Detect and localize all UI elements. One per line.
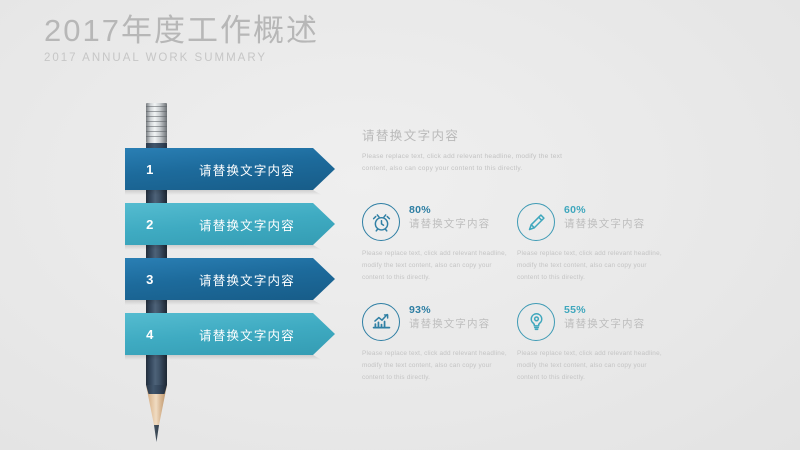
banner-item-3[interactable]: 3 请替换文字内容	[125, 258, 335, 300]
banner-label: 请替换文字内容	[175, 325, 335, 344]
stat-meta: 60% 请替换文字内容	[564, 203, 645, 231]
stat-description: Please replace text, click add relevant …	[362, 248, 512, 285]
stat-card-2[interactable]: 60% 请替换文字内容 Please replace text, click a…	[517, 203, 685, 285]
stat-header: 93% 请替换文字内容	[362, 303, 530, 341]
banner-label: 请替换文字内容	[175, 270, 335, 289]
stat-percent: 60%	[564, 204, 645, 217]
stat-card-1[interactable]: 80% 请替换文字内容 Please replace text, click a…	[362, 203, 530, 285]
stat-meta: 55% 请替换文字内容	[564, 303, 645, 331]
stat-header: 55% 请替换文字内容	[517, 303, 685, 341]
banner-number: 1	[125, 162, 175, 177]
banner-shadow-2	[125, 245, 335, 250]
stat-description: Please replace text, click add relevant …	[362, 348, 512, 385]
banner-label: 请替换文字内容	[175, 215, 335, 234]
page-title: 2017年度工作概述	[44, 14, 319, 48]
stat-card-3[interactable]: 93% 请替换文字内容 Please replace text, click a…	[362, 303, 530, 385]
banner-item-1[interactable]: 1 请替换文字内容	[125, 148, 335, 190]
lightbulb-idea-icon	[517, 303, 555, 341]
stat-label: 请替换文字内容	[409, 217, 490, 231]
banner-number: 3	[125, 272, 175, 287]
stat-label: 请替换文字内容	[564, 317, 645, 331]
slide-header: 2017年度工作概述 2017 ANNUAL WORK SUMMARY	[44, 14, 319, 64]
intro-block: 请替换文字内容 Please replace text, click add r…	[362, 125, 762, 175]
banner-item-4[interactable]: 4 请替换文字内容	[125, 313, 335, 355]
stat-description: Please replace text, click add relevant …	[517, 248, 667, 285]
pencil-wood-tip	[146, 385, 167, 425]
banner-label: 请替换文字内容	[175, 160, 335, 179]
stat-meta: 80% 请替换文字内容	[409, 203, 490, 231]
pencil-lead-point	[146, 425, 167, 442]
stat-card-4[interactable]: 55% 请替换文字内容 Please replace text, click a…	[517, 303, 685, 385]
stat-label: 请替换文字内容	[409, 317, 490, 331]
stat-label: 请替换文字内容	[564, 217, 645, 231]
slide-canvas: 2017年度工作概述 2017 ANNUAL WORK SUMMARY 1 请替…	[0, 0, 800, 450]
bar-chart-growth-icon	[362, 303, 400, 341]
page-subtitle: 2017 ANNUAL WORK SUMMARY	[44, 52, 319, 64]
stat-percent: 80%	[409, 204, 490, 217]
pen-nib-icon	[517, 203, 555, 241]
banner-shadow-4	[125, 355, 335, 360]
banner-number: 4	[125, 327, 175, 342]
stat-header: 60% 请替换文字内容	[517, 203, 685, 241]
banner-shadow-3	[125, 300, 335, 305]
banner-item-2[interactable]: 2 请替换文字内容	[125, 203, 335, 245]
stat-percent: 55%	[564, 304, 645, 317]
stat-percent: 93%	[409, 304, 490, 317]
banner-shadow-1	[125, 190, 335, 195]
intro-title: 请替换文字内容	[362, 125, 762, 144]
stat-header: 80% 请替换文字内容	[362, 203, 530, 241]
stat-description: Please replace text, click add relevant …	[517, 348, 667, 385]
banner-number: 2	[125, 217, 175, 232]
alarm-clock-icon	[362, 203, 400, 241]
stats-grid: 80% 请替换文字内容 Please replace text, click a…	[362, 203, 762, 384]
intro-body: Please replace text, click add relevant …	[362, 151, 567, 175]
pencil-ferrule-icon	[146, 103, 167, 143]
stat-meta: 93% 请替换文字内容	[409, 303, 490, 331]
